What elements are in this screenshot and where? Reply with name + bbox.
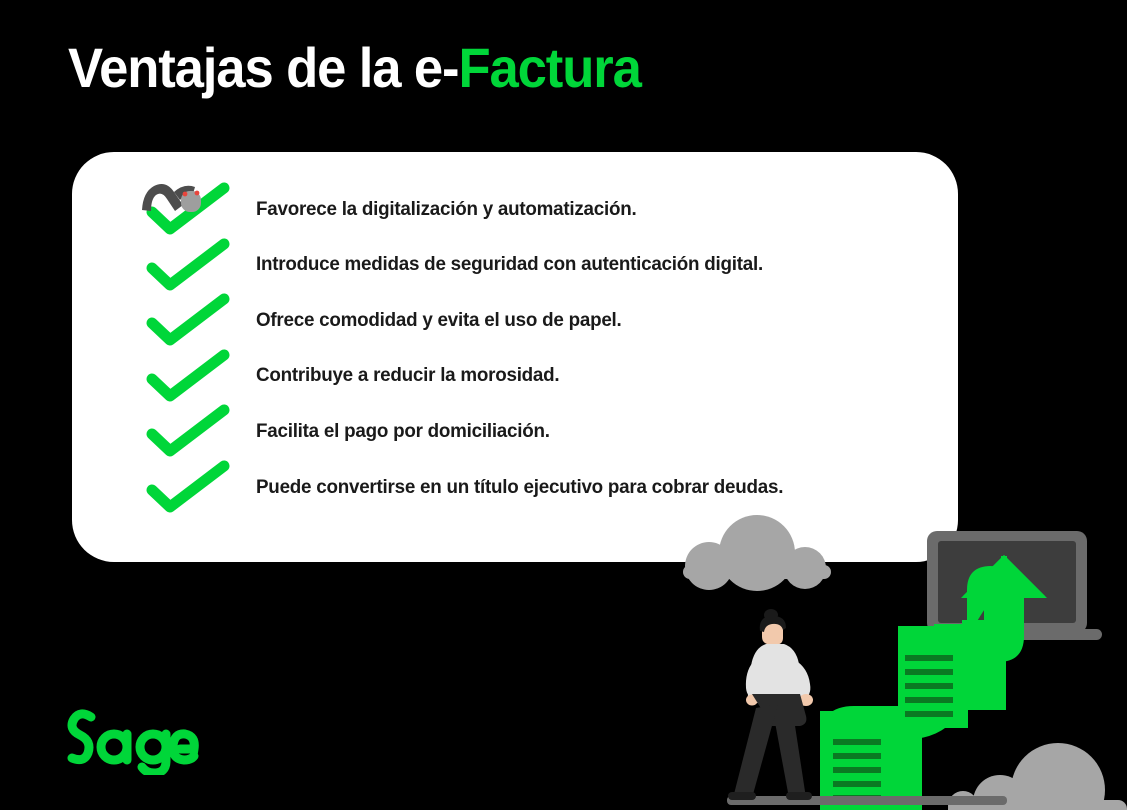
benefit-text: Puede convertirse en un título ejecutivo… [256, 476, 783, 499]
benefit-text: Ofrece comodidad y evita el uso de papel… [256, 309, 622, 332]
check-icon [144, 292, 236, 348]
sage-logo [62, 703, 202, 775]
benefit-row: Puede convertirse en un título ejecutivo… [72, 459, 802, 515]
check-icon-wrapper [144, 348, 244, 404]
check-icon-wrapper [144, 181, 244, 237]
check-icon [144, 403, 236, 459]
page-title: Ventajas de la e-Factura [68, 40, 641, 96]
check-icon-wrapper [144, 292, 244, 348]
document-step-lower-lines [833, 739, 881, 801]
benefit-text: Favorece la digitalización y automatizac… [256, 198, 636, 221]
check-icon-wrapper [144, 459, 244, 515]
document-step-upper-lines [905, 655, 953, 717]
benefit-text: Introduce medidas de seguridad con auten… [256, 253, 763, 276]
benefits-card: Favorece la digitalización y automatizac… [72, 152, 958, 562]
up-arrow-icon [961, 555, 1047, 710]
cloud-bottom-right-icon [948, 743, 1127, 810]
benefit-text: Facilita el pago por domiciliación. [256, 420, 550, 443]
benefit-text: Contribuye a reducir la morosidad. [256, 364, 559, 387]
page-title-white-part: Ventajas de la e- [68, 36, 458, 99]
document-flow-group [820, 555, 1047, 810]
document-step-lower [820, 711, 922, 810]
document-step-upper [898, 626, 968, 728]
benefit-row: Ofrece comodidad y evita el uso de papel… [72, 292, 635, 348]
ground-line [727, 796, 1007, 805]
check-icon-wrapper [144, 237, 244, 293]
benefits-list: Favorece la digitalización y automatizac… [72, 152, 958, 562]
check-icon [144, 237, 236, 293]
page-title-green-part: Factura [458, 36, 640, 99]
benefit-row: Introduce medidas de seguridad con auten… [72, 237, 781, 293]
check-icon-wrapper [144, 403, 244, 459]
benefit-row: Favorece la digitalización y automatizac… [72, 181, 650, 237]
benefit-row: Contribuye a reducir la morosidad. [72, 348, 570, 404]
check-icon [144, 348, 236, 404]
walking-person-icon [728, 609, 813, 800]
benefit-row: Facilita el pago por domiciliación. [72, 403, 560, 459]
infographic-canvas: Ventajas de la e-Factura Favorece la dig… [0, 0, 1127, 810]
check-icon [144, 459, 236, 515]
check-icon [144, 181, 236, 237]
